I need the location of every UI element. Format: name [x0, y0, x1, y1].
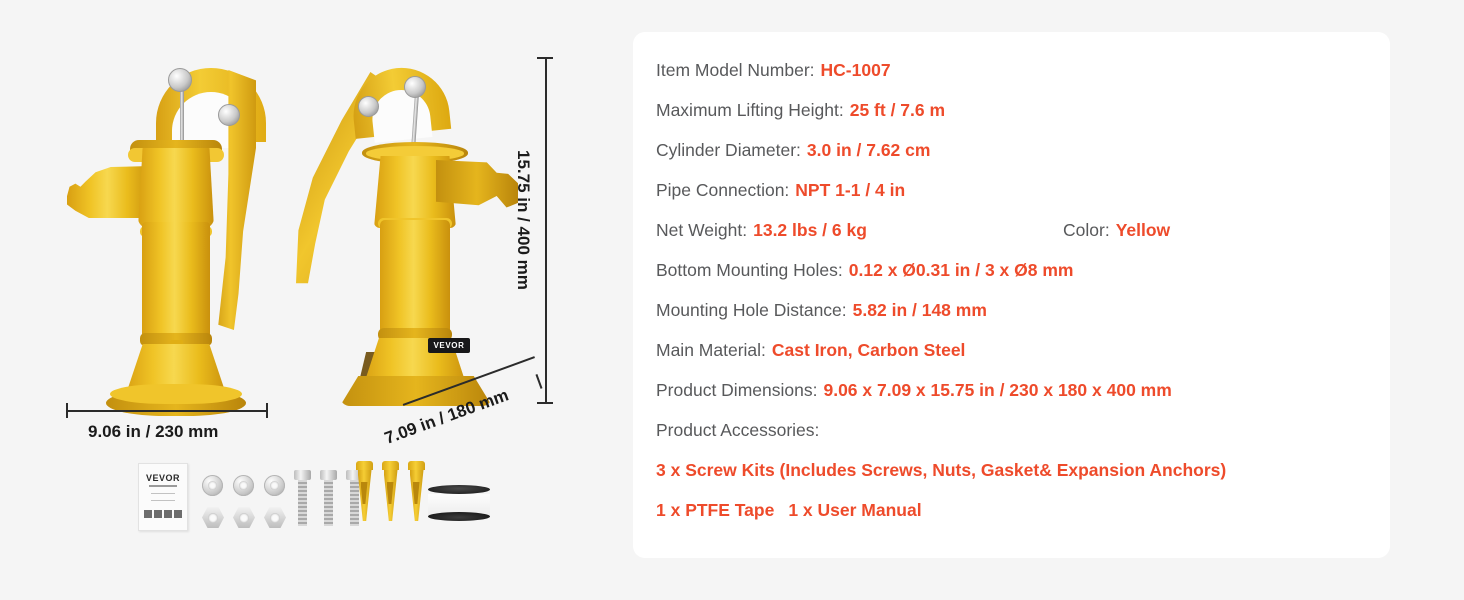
manual-brand-label: VEVOR — [146, 473, 180, 483]
accessories-line-tape-and-manual: 1 x PTFE Tape 1 x User Manual — [656, 490, 1368, 530]
washer-icon — [264, 475, 285, 496]
spec-label: Pipe Connection: — [656, 180, 789, 201]
spec-row-cylinder-diameter: Cylinder Diameter: 3.0 in / 7.62 cm — [656, 130, 1368, 170]
nut-icon — [202, 507, 224, 528]
product-image-panel: VEVOR 9.06 in / 230 mm 15.75 in / 400 mm… — [0, 0, 620, 600]
manual-qr-square — [144, 510, 152, 518]
spec-label: Main Material: — [656, 340, 766, 361]
anchor-head — [356, 461, 373, 470]
anchor-head — [408, 461, 425, 470]
anchor-body — [384, 470, 398, 521]
height-tick-top — [537, 57, 553, 59]
spec-row-bottom-mounting-holes: Bottom Mounting Holes: 0.12 x Ø0.31 in /… — [656, 250, 1368, 290]
expansion-anchor-icon — [382, 461, 399, 521]
washer-icon — [233, 475, 254, 496]
accessories-line-screw-kits: 3 x Screw Kits (Includes Screws, Nuts, G… — [656, 450, 1368, 490]
anchor-body — [410, 470, 424, 521]
spec-label: Maximum Lifting Height: — [656, 100, 844, 121]
anchor-slot — [361, 482, 368, 504]
width-tick-right — [266, 403, 268, 418]
expansion-anchor-icon — [408, 461, 425, 521]
spec-value: 9.06 x 7.09 x 15.75 in / 230 x 180 x 400… — [823, 380, 1171, 401]
spec-label: Bottom Mounting Holes: — [656, 260, 843, 281]
spec-value: HC-1007 — [821, 60, 891, 81]
ptfe-tape-icon — [428, 485, 490, 523]
specification-list: Item Model Number: HC-1007 Maximum Lifti… — [656, 50, 1368, 530]
depth-tick-right — [535, 374, 542, 389]
pump-pivot-pin-lower — [218, 104, 240, 126]
spec-label: Cylinder Diameter: — [656, 140, 801, 161]
spec-value: 25 ft / 7.6 m — [850, 100, 945, 121]
spec-row-product-accessories: Product Accessories: — [656, 410, 1368, 450]
spec-value: 3.0 in / 7.62 cm — [807, 140, 931, 161]
manual-text-line — [151, 493, 175, 494]
pump-cylinder — [142, 222, 210, 342]
anchor-slot — [413, 482, 420, 504]
expansion-anchor-icon — [356, 461, 373, 521]
tape-top-rim — [428, 485, 490, 494]
manual-qr-square — [174, 510, 182, 518]
spec-color-group: Color: Yellow — [1063, 220, 1170, 241]
bolt-icon — [294, 470, 311, 526]
manual-qr-row — [144, 510, 182, 518]
product-spec-page: VEVOR 9.06 in / 230 mm 15.75 in / 400 mm… — [0, 0, 1464, 600]
spec-row-mounting-hole-distance: Mounting Hole Distance: 5.82 in / 148 mm — [656, 290, 1368, 330]
width-dimension-line — [66, 410, 268, 412]
accessories-value: 3 x Screw Kits (Includes Screws, Nuts, G… — [656, 460, 1226, 481]
spec-label: Mounting Hole Distance: — [656, 300, 847, 321]
spec-row-item-model-number: Item Model Number: HC-1007 — [656, 50, 1368, 90]
pump-upper-body — [138, 148, 214, 228]
accessories-image-strip: VEVOR — [120, 455, 520, 545]
pump-base-plate-top — [110, 384, 242, 404]
height-dimension-line — [545, 57, 547, 403]
washer-icon — [202, 475, 223, 496]
user-manual-icon: VEVOR — [138, 463, 188, 531]
manual-text-line — [151, 500, 175, 501]
spec-label-color: Color: — [1063, 220, 1110, 241]
bolt-shaft — [298, 480, 307, 526]
pump-pivot-pin-top — [404, 76, 426, 98]
height-tick-bottom — [537, 402, 553, 404]
manual-qr-square — [164, 510, 172, 518]
product-pump-angled-view: VEVOR — [300, 60, 530, 410]
spec-label: Product Dimensions: — [656, 380, 817, 401]
anchor-head — [382, 461, 399, 470]
spec-label: Net Weight: — [656, 220, 747, 241]
bolt-shaft — [324, 480, 333, 526]
anchor-slot — [387, 482, 394, 504]
vevor-brand-badge: VEVOR — [428, 338, 470, 353]
bolt-head — [320, 470, 337, 480]
width-tick-left — [66, 403, 68, 418]
nut-icon — [233, 507, 255, 528]
specification-card: Item Model Number: HC-1007 Maximum Lifti… — [633, 32, 1390, 558]
spec-row-maximum-lifting-height: Maximum Lifting Height: 25 ft / 7.6 m — [656, 90, 1368, 130]
spec-row-product-dimensions: Product Dimensions: 9.06 x 7.09 x 15.75 … — [656, 370, 1368, 410]
spec-label: Item Model Number: — [656, 60, 815, 81]
pump-spout — [67, 166, 151, 218]
spec-value-color: Yellow — [1116, 220, 1170, 241]
nut-icon — [264, 507, 286, 528]
spec-value: 5.82 in / 148 mm — [853, 300, 987, 321]
spec-value: Cast Iron, Carbon Steel — [772, 340, 966, 361]
product-pump-side-view — [60, 52, 310, 412]
pump-cylinder — [380, 220, 450, 340]
spec-row-pipe-connection: Pipe Connection: NPT 1-1 / 4 in — [656, 170, 1368, 210]
width-dimension-label: 9.06 in / 230 mm — [88, 422, 218, 442]
accessories-label: Product Accessories: — [656, 420, 819, 441]
manual-tagline-rule — [149, 485, 177, 487]
spec-value: 0.12 x Ø0.31 in / 3 x Ø8 mm — [849, 260, 1074, 281]
bolt-head — [294, 470, 311, 480]
spec-row-main-material: Main Material: Cast Iron, Carbon Steel — [656, 330, 1368, 370]
accessories-value-ptfe-tape: 1 x PTFE Tape — [656, 500, 774, 521]
height-dimension-label: 15.75 in / 400 mm — [513, 150, 533, 290]
vevor-badge-label: VEVOR — [433, 341, 464, 350]
spec-value: NPT 1-1 / 4 in — [795, 180, 905, 201]
pump-pivot-pin-lower — [358, 96, 379, 117]
spec-value: 13.2 lbs / 6 kg — [753, 220, 867, 241]
bolt-icon — [320, 470, 337, 526]
tape-bottom-rim — [428, 512, 490, 521]
anchor-body — [358, 470, 372, 521]
spec-row-net-weight-and-color: Net Weight: 13.2 lbs / 6 kg Color: Yello… — [656, 210, 1368, 250]
accessories-value-user-manual: 1 x User Manual — [788, 500, 921, 521]
manual-qr-square — [154, 510, 162, 518]
pump-pivot-pin-top — [168, 68, 192, 92]
